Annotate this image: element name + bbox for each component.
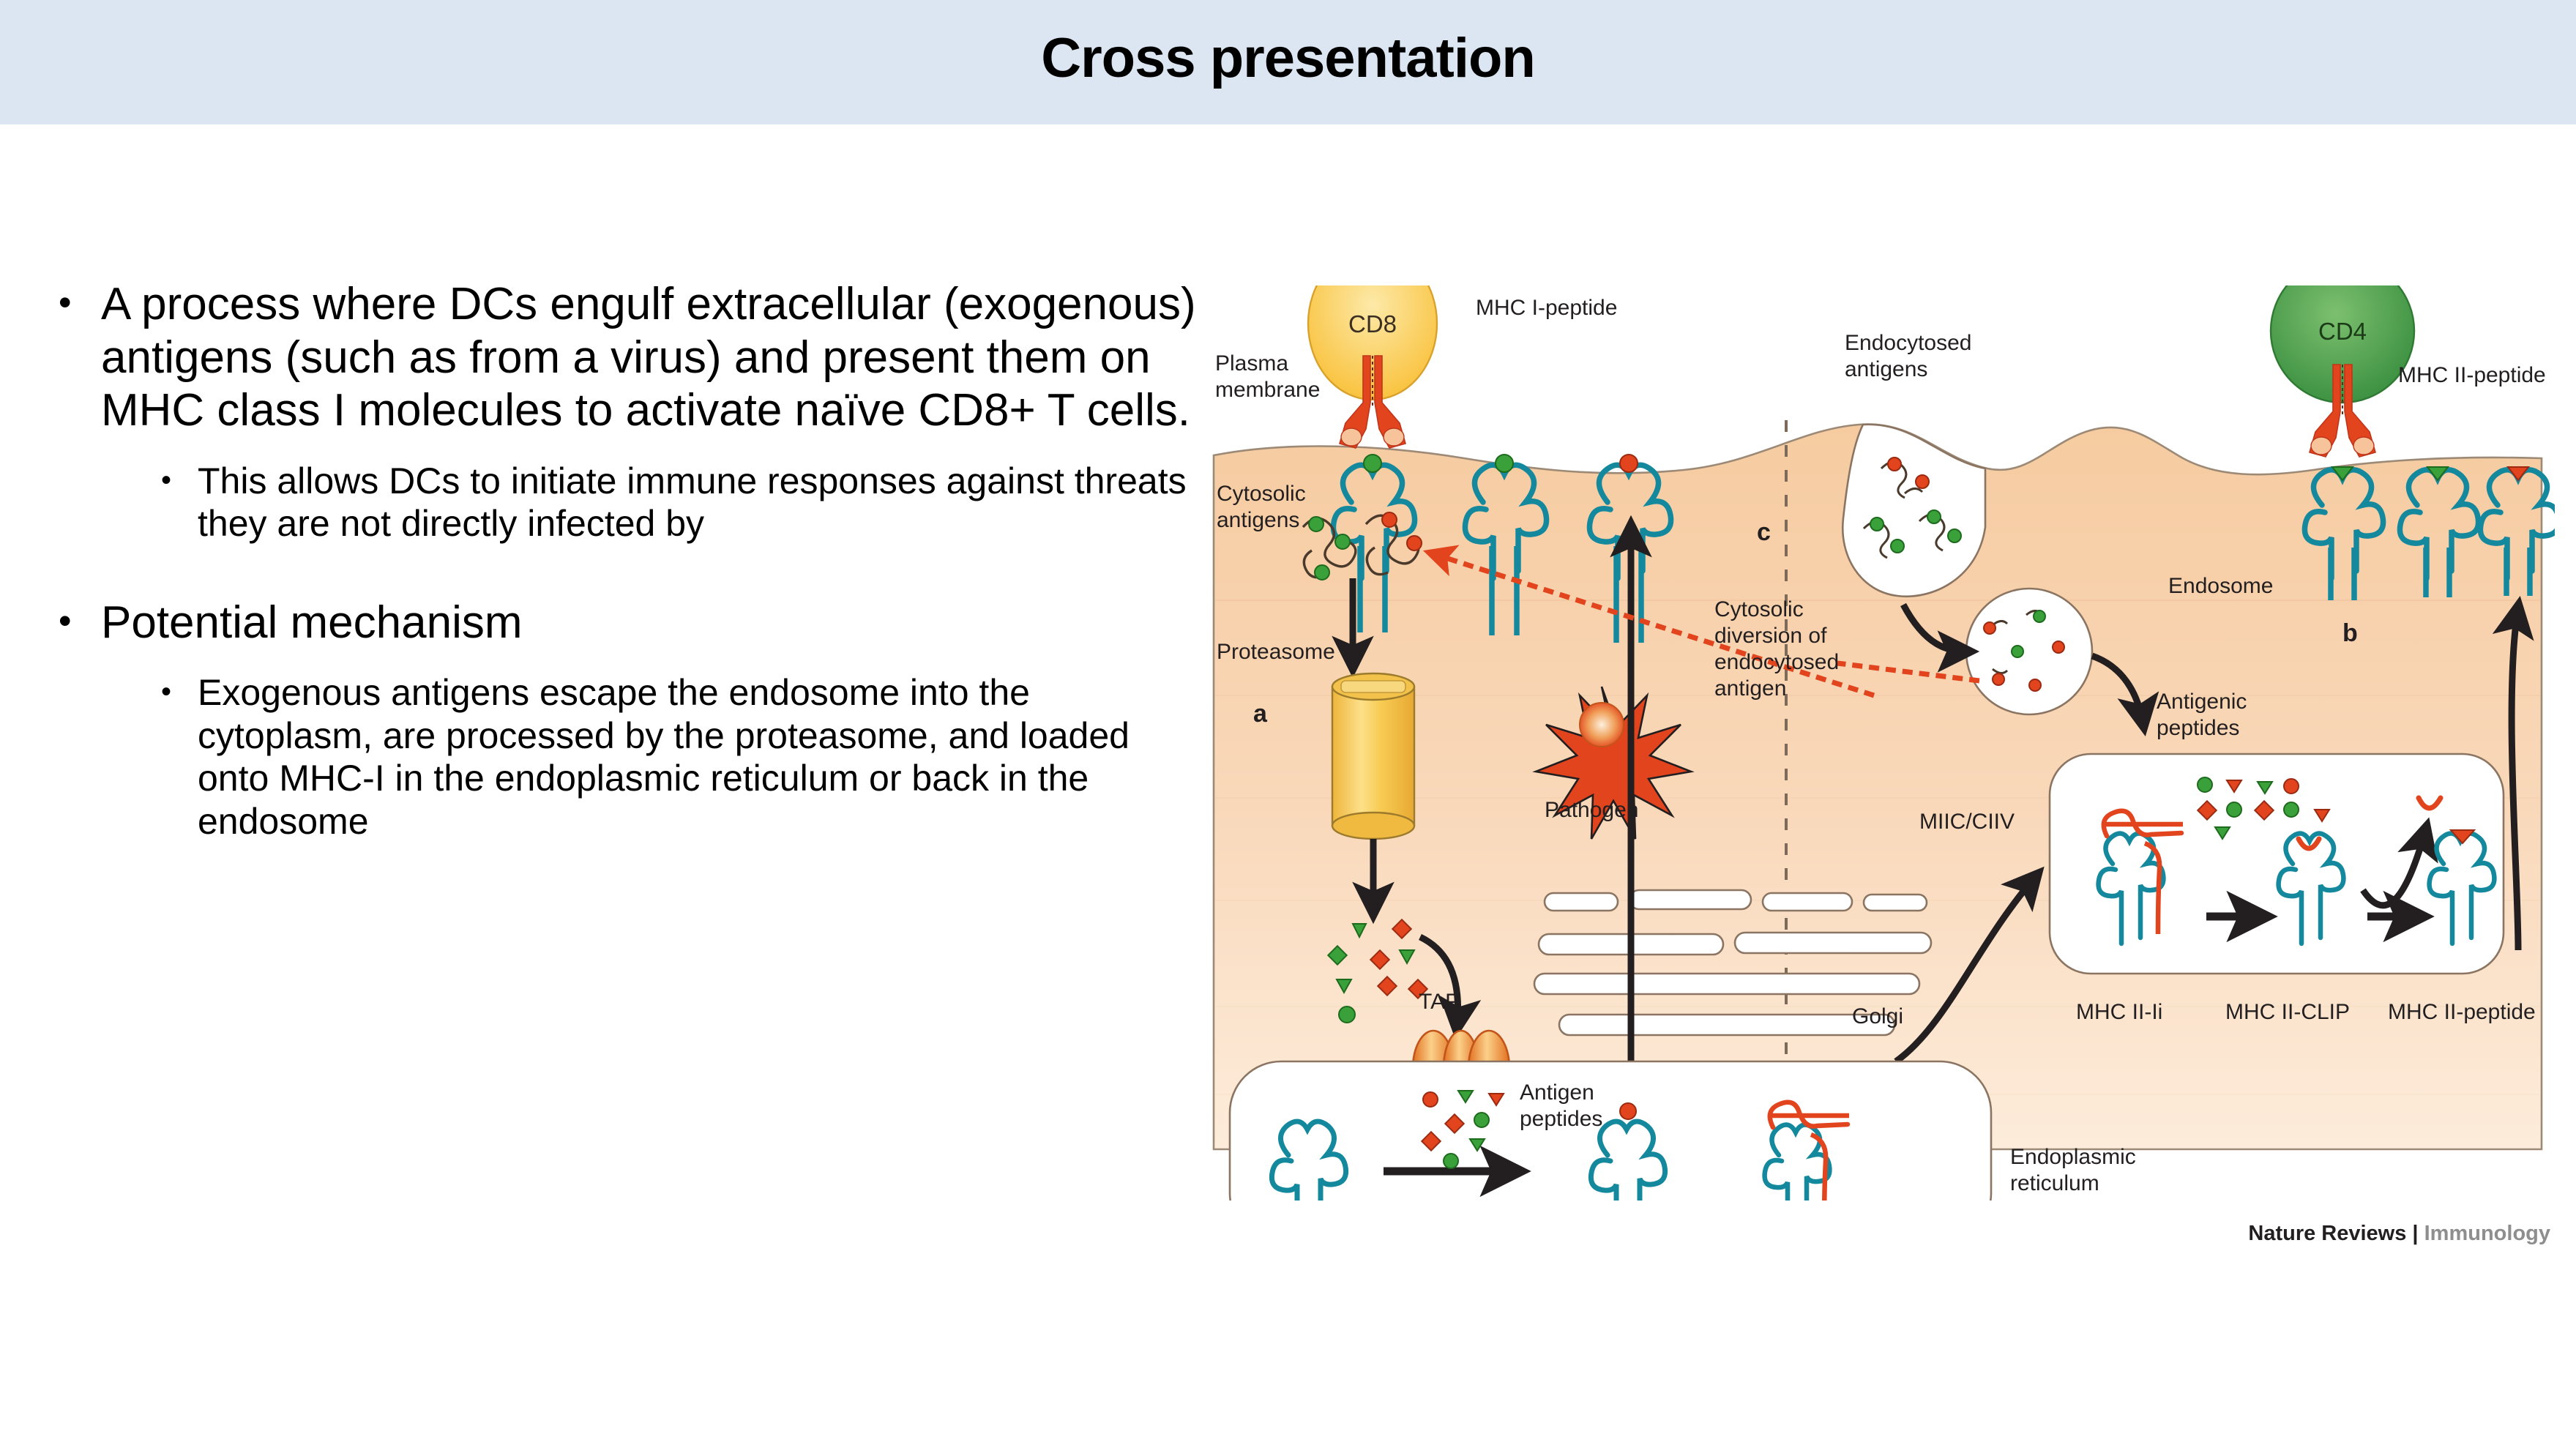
endoplasmic-reticulum-compartment — [1230, 1061, 1991, 1201]
credit-separator: | — [2406, 1222, 2424, 1245]
antigen-peptides-label-2: peptides — [1520, 1107, 1602, 1131]
panel-label-a: a — [1253, 700, 1268, 728]
mhc-ii-clip-label: MHC II-CLIP — [2225, 1000, 2350, 1024]
cd4-label: CD4 — [2318, 318, 2367, 345]
bullet-text: Potential mechanism — [101, 597, 1201, 650]
spacer — [59, 438, 1201, 460]
antigenic-peptides-label-1: Antigenic — [2157, 690, 2247, 714]
cd8-t-cell: CD8 — [1308, 285, 1437, 400]
antigenic-peptides-label-2: peptides — [2157, 716, 2239, 740]
peptide-green — [1364, 455, 1381, 472]
endoplasmic-reticulum-label-1: Endoplasmic — [2010, 1145, 2136, 1169]
miic-ciiv-compartment — [2050, 754, 2504, 974]
panel-label-b: b — [2342, 619, 2358, 647]
peptide-green — [1496, 455, 1513, 472]
cd8-label: CD8 — [1348, 310, 1397, 337]
bullet-level2-initiate-immune: • This allows DCs to initiate immune res… — [161, 460, 1201, 545]
tap-label: TAP — [1419, 990, 1460, 1014]
cytosolic-antigens-label-2: antigens — [1217, 508, 1299, 532]
plasma-membrane-label-1: Plasma — [1215, 351, 1288, 376]
bullet-text: This allows DCs to initiate immune respo… — [198, 460, 1201, 545]
slide-title-band: Cross presentation — [0, 0, 2576, 124]
proteasome-label: Proteasome — [1217, 640, 1335, 664]
mhc-ii-peptide-top-label: MHC II-peptide — [2398, 363, 2546, 387]
credit-section: Immunology — [2424, 1222, 2550, 1245]
mhc-ii-li-miic-label: MHC II-Ii — [2076, 1000, 2162, 1024]
bullet-level1-process: • A process where DCs engulf extracellul… — [59, 278, 1201, 438]
cytosolic-diversion-label-4: antigen — [1714, 676, 1786, 701]
spacer — [59, 545, 1201, 597]
bullet-marker: • — [59, 597, 101, 650]
bullet-marker: • — [161, 671, 198, 843]
mhc-ii-peptide-miic-label: MHC II-peptide — [2388, 1000, 2536, 1024]
antigen-presentation-figure: CD8 CD4 — [1201, 285, 2555, 1259]
golgi-label: Golgi — [1852, 1004, 1903, 1028]
endoplasmic-reticulum-label-2: reticulum — [2010, 1171, 2099, 1195]
bullet-marker: • — [161, 460, 198, 545]
plasma-membrane-label-2: membrane — [1215, 378, 1320, 402]
antigen-peptides-label-1: Antigen — [1520, 1080, 1594, 1105]
panel-label-c: c — [1757, 518, 1771, 546]
cytosolic-diversion-label-3: endocytosed — [1714, 650, 1839, 674]
bullet-level2-exogenous-escape: • Exogenous antigens escape the endosome… — [161, 671, 1201, 843]
bullet-level1-potential-mechanism: • Potential mechanism — [59, 597, 1201, 650]
cytosolic-diversion-label-2: diversion of — [1714, 624, 1827, 648]
cytosolic-diversion-label-1: Cytosolic — [1714, 597, 1804, 621]
spacer — [59, 649, 1201, 671]
endocytosed-antigens-label-2: antigens — [1845, 357, 1927, 381]
journal-credit: Nature Reviews | Immunology — [2248, 1222, 2550, 1246]
miic-ciiv-label: MIIC/CIIV — [1919, 810, 2015, 834]
credit-journal: Nature Reviews — [2248, 1222, 2406, 1245]
bullet-text: A process where DCs engulf extracellular… — [101, 278, 1201, 438]
page-title: Cross presentation — [0, 26, 2576, 90]
endosome-vesicle — [1966, 589, 2092, 714]
figure-svg: CD8 CD4 — [1201, 285, 2555, 1201]
mhc-i-peptide-top-label: MHC I-peptide — [1476, 296, 1617, 320]
proteasome-cylinder — [1332, 673, 1414, 839]
pathogen-label: Pathogen — [1545, 798, 1638, 822]
endocytosed-antigens-label-1: Endocytosed — [1845, 331, 1971, 355]
cytosolic-antigens-label-1: Cytosolic — [1217, 482, 1306, 506]
bullet-marker: • — [59, 278, 101, 438]
slide-body: • A process where DCs engulf extracellul… — [59, 278, 1201, 843]
peptide-red — [1620, 455, 1638, 472]
endosome-label: Endosome — [2168, 574, 2273, 598]
endocytosis-pocket — [1843, 425, 1985, 597]
bullet-text: Exogenous antigens escape the endosome i… — [198, 671, 1201, 843]
